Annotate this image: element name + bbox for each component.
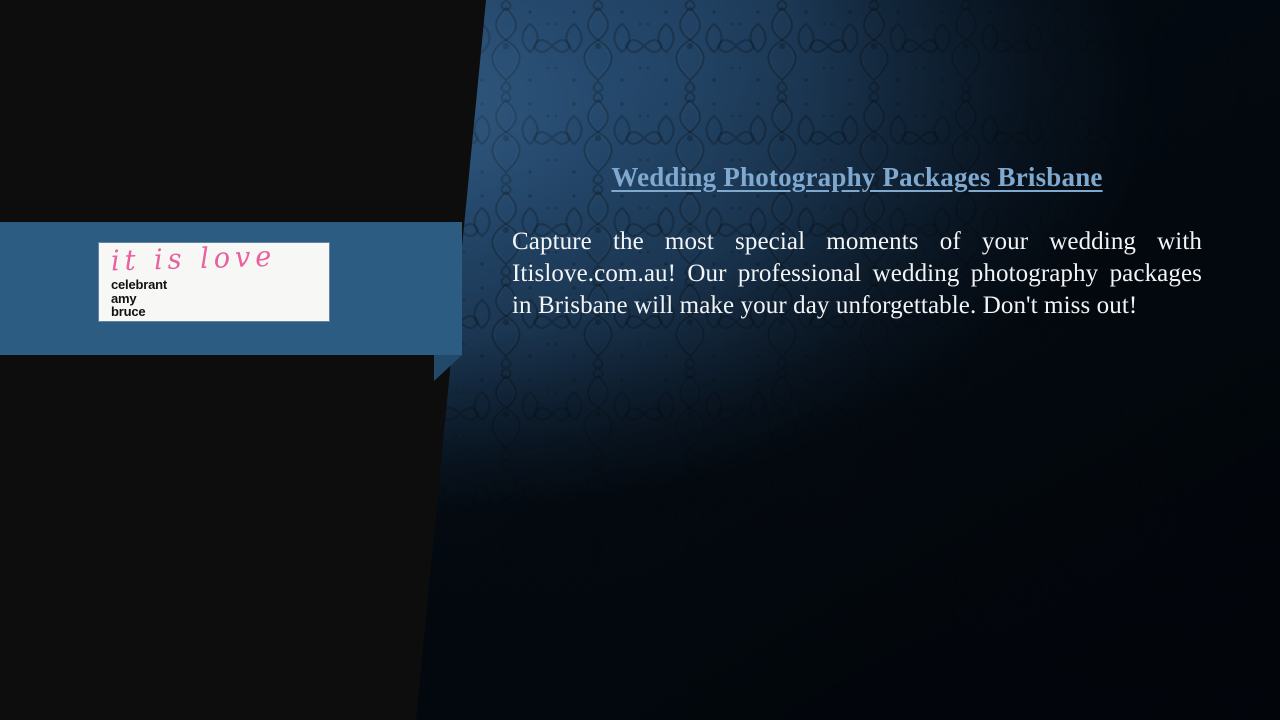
headline-container: Wedding Photography Packages Brisbane	[512, 160, 1202, 194]
headline-link[interactable]: Wedding Photography Packages Brisbane	[611, 162, 1102, 192]
body-paragraph: Capture the most special moments of your…	[512, 226, 1202, 322]
logo-subtitle: celebrant amy bruce	[111, 278, 167, 319]
content-area: Wedding Photography Packages Brisbane Ca…	[512, 160, 1202, 347]
brand-logo-card: it is love celebrant amy bruce	[99, 243, 329, 321]
logo-subtitle-line-3: bruce	[111, 305, 167, 319]
left-black-panel	[0, 0, 500, 720]
logo-subtitle-line-1: celebrant	[111, 278, 167, 292]
logo-subtitle-line-2: amy	[111, 292, 167, 306]
slide: it is love celebrant amy bruce Wedding P…	[0, 0, 1280, 720]
